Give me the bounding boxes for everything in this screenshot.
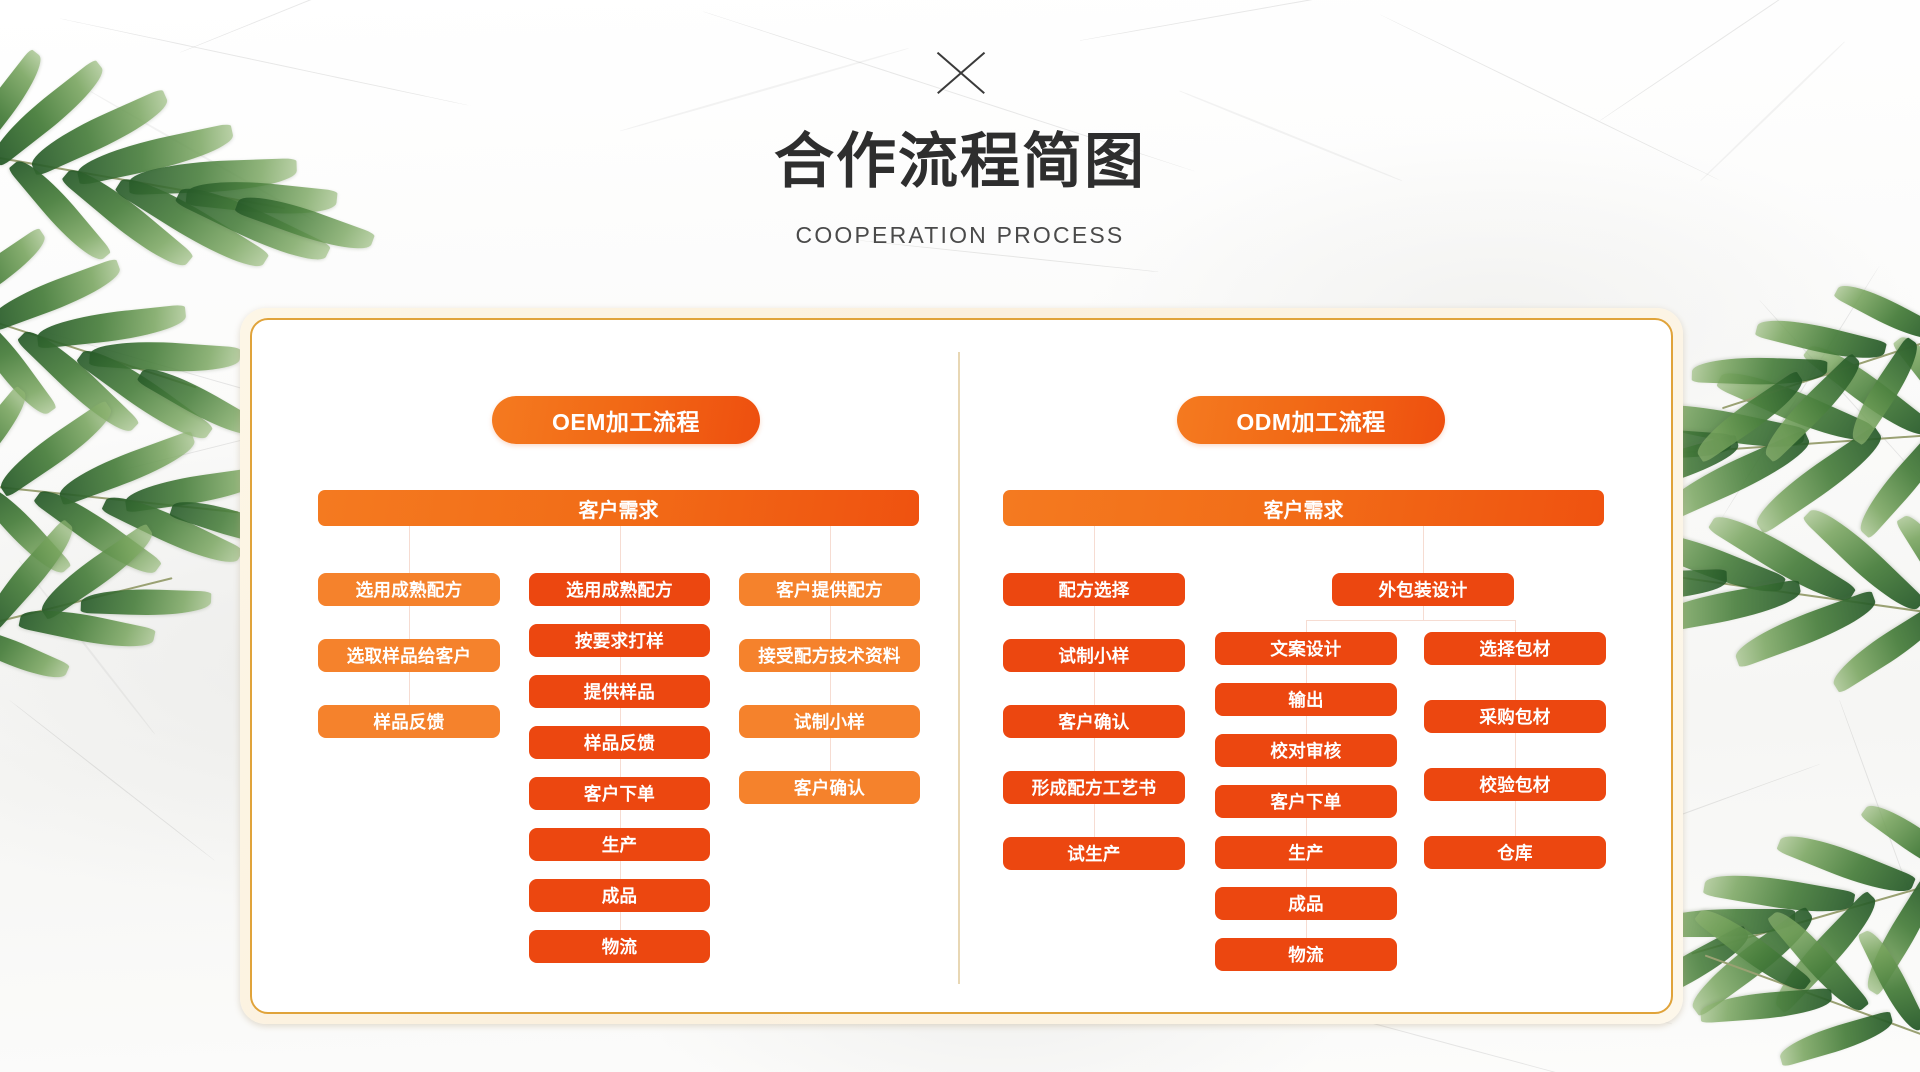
connector-odm-left-2 bbox=[1094, 738, 1095, 771]
node-odm-left-3[interactable]: 形成配方工艺书 bbox=[1003, 771, 1185, 804]
connector-odm-right-2 bbox=[1515, 801, 1516, 836]
connector-oem-center-4 bbox=[620, 810, 621, 828]
connector-odm-center-0 bbox=[1306, 665, 1307, 683]
connector-odm-left-trunk bbox=[1094, 526, 1095, 573]
odm-packaging-branch-label[interactable]: 外包装设计 bbox=[1332, 573, 1514, 606]
connector-odm-right-1 bbox=[1515, 733, 1516, 768]
node-odm-center-5[interactable]: 成品 bbox=[1215, 887, 1397, 920]
node-odm-right-3[interactable]: 仓库 bbox=[1424, 836, 1606, 869]
connector-oem-right-2 bbox=[830, 738, 831, 771]
node-oem-center-5[interactable]: 生产 bbox=[529, 828, 710, 861]
connector-odm-right-trunk bbox=[1515, 620, 1516, 632]
connector-odm-branch-down bbox=[1423, 606, 1424, 620]
connector-oem-center-0 bbox=[620, 606, 621, 624]
connector-odm-left-3 bbox=[1094, 804, 1095, 837]
node-odm-left-4[interactable]: 试生产 bbox=[1003, 837, 1185, 870]
oem-process-pill: OEM加工流程 bbox=[492, 396, 760, 444]
node-odm-center-1[interactable]: 输出 bbox=[1215, 683, 1397, 716]
node-oem-center-1[interactable]: 按要求打样 bbox=[529, 624, 710, 657]
node-odm-right-0[interactable]: 选择包材 bbox=[1424, 632, 1606, 665]
connector-oem-right-1 bbox=[830, 672, 831, 705]
node-odm-center-2[interactable]: 校对审核 bbox=[1215, 734, 1397, 767]
connector-odm-center-1 bbox=[1306, 716, 1307, 734]
node-odm-right-1[interactable]: 采购包材 bbox=[1424, 700, 1606, 733]
node-odm-right-2[interactable]: 校验包材 bbox=[1424, 768, 1606, 801]
connector-oem-left-1 bbox=[409, 672, 410, 705]
connector-odm-center-trunk bbox=[1306, 620, 1307, 632]
connector-odm-branch-split bbox=[1306, 620, 1515, 621]
node-oem-center-6[interactable]: 成品 bbox=[529, 879, 710, 912]
node-oem-right-2[interactable]: 试制小样 bbox=[739, 705, 920, 738]
node-odm-center-0[interactable]: 文案设计 bbox=[1215, 632, 1397, 665]
connector-oem-center-2 bbox=[620, 708, 621, 726]
connector-oem-right-trunk bbox=[830, 526, 831, 573]
connector-oem-center-6 bbox=[620, 912, 621, 930]
node-odm-left-1[interactable]: 试制小样 bbox=[1003, 639, 1185, 672]
connector-odm-branch-trunk bbox=[1423, 526, 1424, 573]
connector-odm-center-5 bbox=[1306, 920, 1307, 938]
page-title: 合作流程简图 bbox=[0, 132, 1920, 192]
node-odm-center-4[interactable]: 生产 bbox=[1215, 836, 1397, 869]
odm-process-pill: ODM加工流程 bbox=[1177, 396, 1445, 444]
connector-oem-left-0 bbox=[409, 606, 410, 639]
node-oem-left-0[interactable]: 选用成熟配方 bbox=[318, 573, 500, 606]
node-odm-center-6[interactable]: 物流 bbox=[1215, 938, 1397, 971]
node-oem-right-0[interactable]: 客户提供配方 bbox=[739, 573, 920, 606]
connector-odm-right-0 bbox=[1515, 665, 1516, 700]
node-oem-center-4[interactable]: 客户下单 bbox=[529, 777, 710, 810]
node-odm-center-3[interactable]: 客户下单 bbox=[1215, 785, 1397, 818]
connector-oem-center-3 bbox=[620, 759, 621, 777]
node-odm-left-2[interactable]: 客户确认 bbox=[1003, 705, 1185, 738]
node-oem-right-1[interactable]: 接受配方技术资料 bbox=[739, 639, 920, 672]
connector-oem-left-trunk bbox=[409, 526, 410, 573]
node-oem-center-3[interactable]: 样品反馈 bbox=[529, 726, 710, 759]
connector-odm-center-4 bbox=[1306, 869, 1307, 887]
connector-odm-left-0 bbox=[1094, 606, 1095, 639]
connector-oem-right-0 bbox=[830, 606, 831, 639]
node-oem-center-7[interactable]: 物流 bbox=[529, 930, 710, 963]
connector-odm-center-2 bbox=[1306, 767, 1307, 785]
node-oem-center-0[interactable]: 选用成熟配方 bbox=[529, 573, 710, 606]
node-oem-left-2[interactable]: 样品反馈 bbox=[318, 705, 500, 738]
connector-oem-center-1 bbox=[620, 657, 621, 675]
node-oem-center-2[interactable]: 提供样品 bbox=[529, 675, 710, 708]
connector-odm-left-1 bbox=[1094, 672, 1095, 705]
page-subtitle: COOPERATION PROCESS bbox=[0, 222, 1920, 249]
section-divider bbox=[958, 352, 960, 984]
connector-oem-center-5 bbox=[620, 861, 621, 879]
node-oem-left-1[interactable]: 选取样品给客户 bbox=[318, 639, 500, 672]
connector-odm-center-3 bbox=[1306, 818, 1307, 836]
x-decoration-icon bbox=[930, 42, 992, 104]
odm-customer-need-bar: 客户需求 bbox=[1003, 490, 1604, 526]
node-odm-left-0[interactable]: 配方选择 bbox=[1003, 573, 1185, 606]
connector-oem-center-trunk bbox=[620, 526, 621, 573]
oem-customer-need-bar: 客户需求 bbox=[318, 490, 919, 526]
node-oem-right-3[interactable]: 客户确认 bbox=[739, 771, 920, 804]
